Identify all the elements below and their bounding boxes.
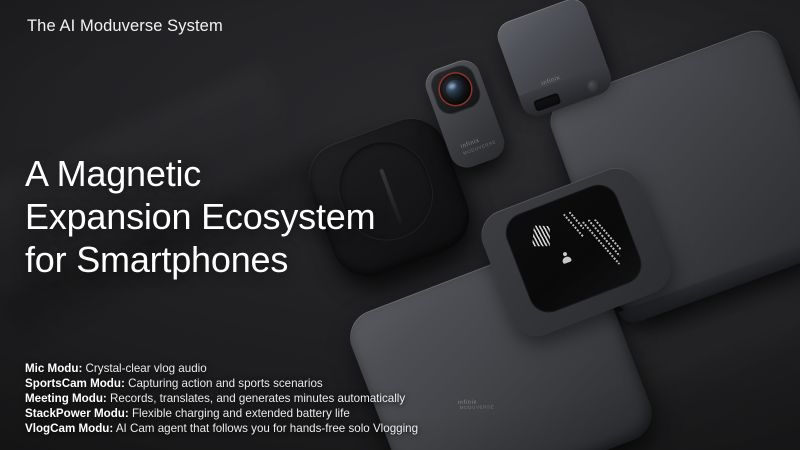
feature-row: VlogCam Modu: AI Cam agent that follows … [25, 421, 418, 436]
feature-label: VlogCam Modu: [25, 422, 113, 435]
feature-label: StackPower Modu: [25, 407, 129, 420]
feature-row: StackPower Modu: Flexible charging and e… [25, 406, 418, 421]
feature-row: Mic Modu: Crystal-clear vlog audio [25, 361, 418, 376]
feature-description: AI Cam agent that follows you for hands-… [113, 422, 418, 435]
feature-label: SportsCam Modu: [25, 377, 125, 390]
feature-label: Meeting Modu: [25, 392, 107, 405]
page-title: A Magnetic Expansion Ecosystem for Smart… [25, 152, 375, 281]
feature-label: Mic Modu: [25, 362, 82, 375]
feature-description: Flexible charging and extended battery l… [129, 407, 350, 420]
feature-description: Crystal-clear vlog audio [82, 362, 206, 375]
feature-row: Meeting Modu: Records, translates, and g… [25, 391, 418, 406]
product-slide: infinix infinix [0, 0, 800, 450]
text-layer: The AI Moduverse System A Magnetic Expan… [0, 0, 800, 450]
feature-list: Mic Modu: Crystal-clear vlog audioSports… [25, 361, 418, 436]
feature-description: Records, translates, and generates minut… [107, 392, 405, 405]
feature-row: SportsCam Modu: Capturing action and spo… [25, 376, 418, 391]
eyebrow-label: The AI Moduverse System [27, 17, 223, 36]
feature-description: Capturing action and sports scenarios [125, 377, 323, 390]
